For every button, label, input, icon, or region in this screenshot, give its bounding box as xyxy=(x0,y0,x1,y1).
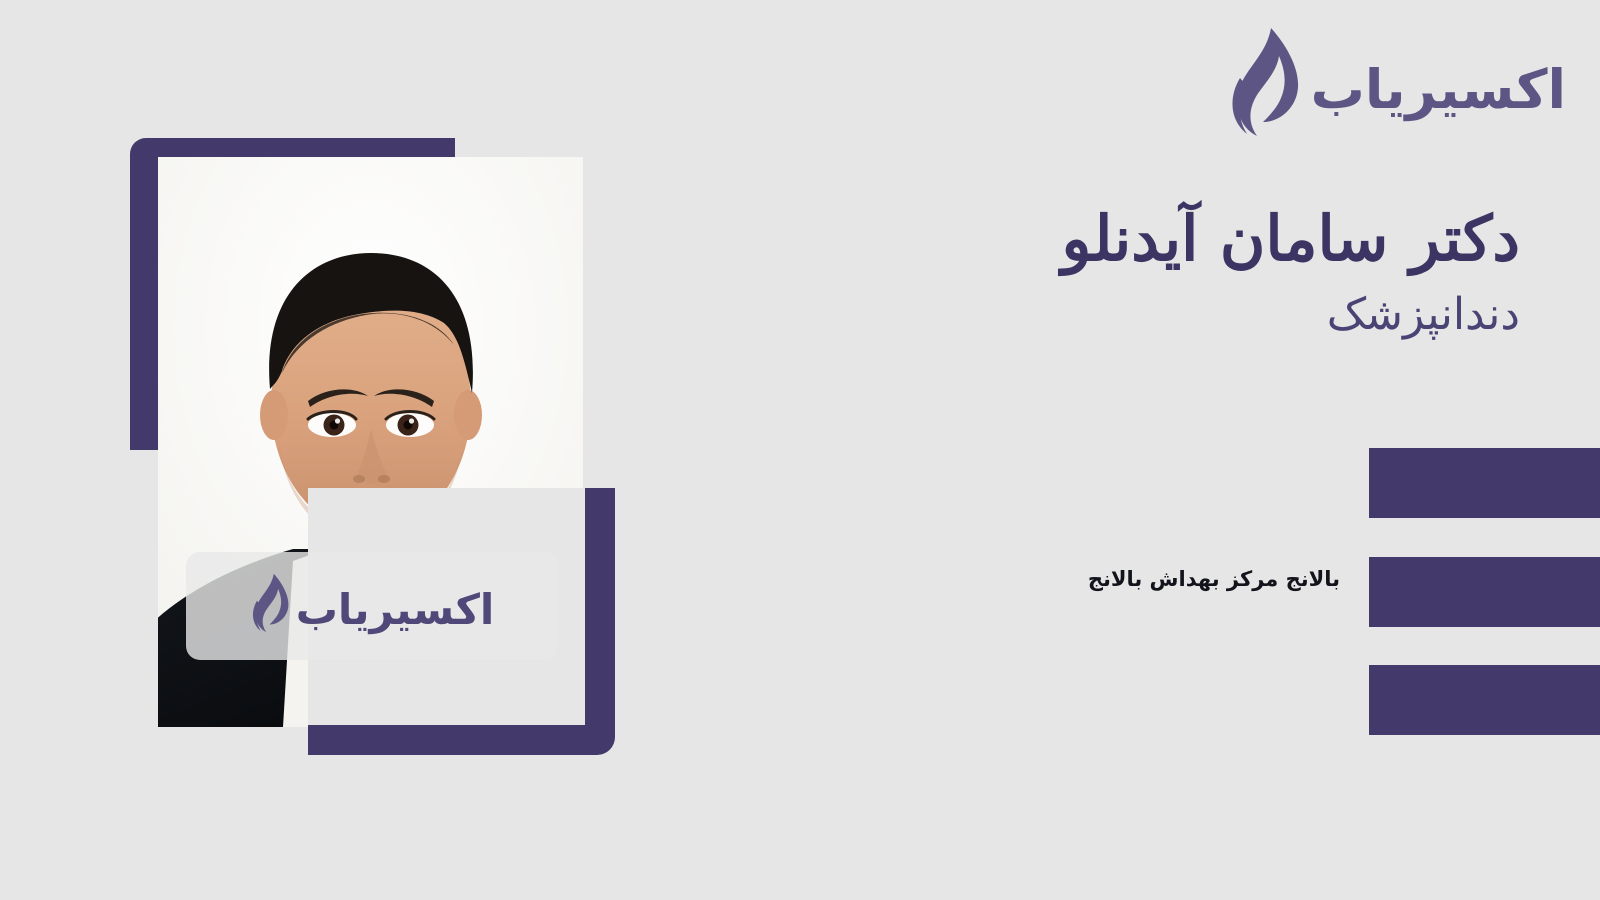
watermark-text: اکسیریاب xyxy=(296,589,495,631)
photo-block: اکسیریاب xyxy=(110,120,650,780)
flame-drop-icon xyxy=(1227,26,1301,142)
doctor-name: دکتر سامان آیدنلو xyxy=(760,200,1520,278)
clinic-address: بالانج مرکز بهداش بالانج xyxy=(1080,565,1340,594)
doctor-specialty: دندانپزشک xyxy=(760,286,1520,343)
doctor-info: دکتر سامان آیدنلو دندانپزشک xyxy=(760,200,1520,343)
decor-bar-1 xyxy=(1369,448,1600,518)
decor-bar-2 xyxy=(1369,557,1600,627)
brand-logo[interactable]: اکسیریاب xyxy=(1227,26,1566,142)
photo-watermark: اکسیریاب xyxy=(186,552,558,660)
watermark-flame-drop-icon xyxy=(250,572,290,640)
decor-bar-3 xyxy=(1369,665,1600,735)
doctor-profile-card: اکسیریاب xyxy=(0,0,1600,900)
decor-bars xyxy=(1369,448,1600,738)
brand-wordmark: اکسیریاب xyxy=(1311,63,1566,117)
